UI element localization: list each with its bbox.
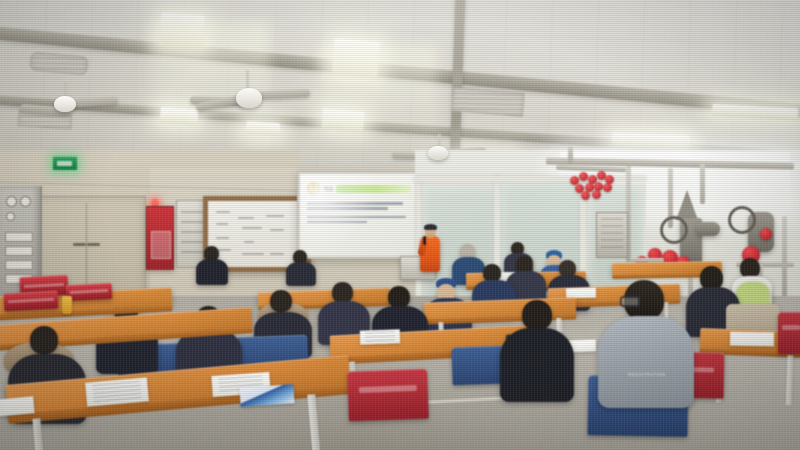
chair-red[interactable] (778, 312, 800, 354)
slide-number-badge: 1 (307, 182, 320, 195)
emergency-exit-sign (52, 156, 78, 171)
handout-paper (360, 329, 400, 344)
jacket-back-text: REGISTRATION (628, 372, 665, 377)
projection-screen-surface: 1 개요 (300, 174, 418, 256)
fire-hose-cabinet[interactable] (146, 206, 174, 270)
red-equipment-case[interactable] (66, 283, 113, 301)
slide-bullet-block (307, 216, 411, 224)
ceiling-light-panel (332, 38, 381, 78)
ceiling-light-panel (246, 121, 281, 136)
ceiling-light-panel (159, 13, 205, 50)
red-equipment-case[interactable] (4, 291, 59, 312)
projection-screen: 1 개요 (297, 171, 421, 259)
handout-paper (0, 396, 35, 416)
chair-red[interactable] (347, 369, 429, 422)
slide-title: 개요 (323, 185, 333, 193)
slide-title-bar (336, 185, 411, 193)
amber-bottle[interactable] (62, 296, 72, 314)
blue-brochure (239, 384, 294, 407)
ceiling-light-panel (159, 107, 198, 126)
presenter-cap (424, 224, 437, 230)
handout-paper (730, 332, 774, 347)
classroom-photo-scene: 1 개요 (0, 0, 800, 450)
presenter-speaking (418, 224, 442, 278)
presentation-slide: 1 개요 (300, 174, 418, 256)
wall-electrical-box[interactable] (596, 212, 628, 258)
eyeglasses (620, 296, 640, 307)
ceiling-light-panel (321, 108, 365, 132)
slide-header: 1 개요 (307, 182, 411, 195)
microphone (423, 236, 426, 245)
slide-body (307, 202, 411, 223)
slide-bullet-block (307, 202, 411, 210)
